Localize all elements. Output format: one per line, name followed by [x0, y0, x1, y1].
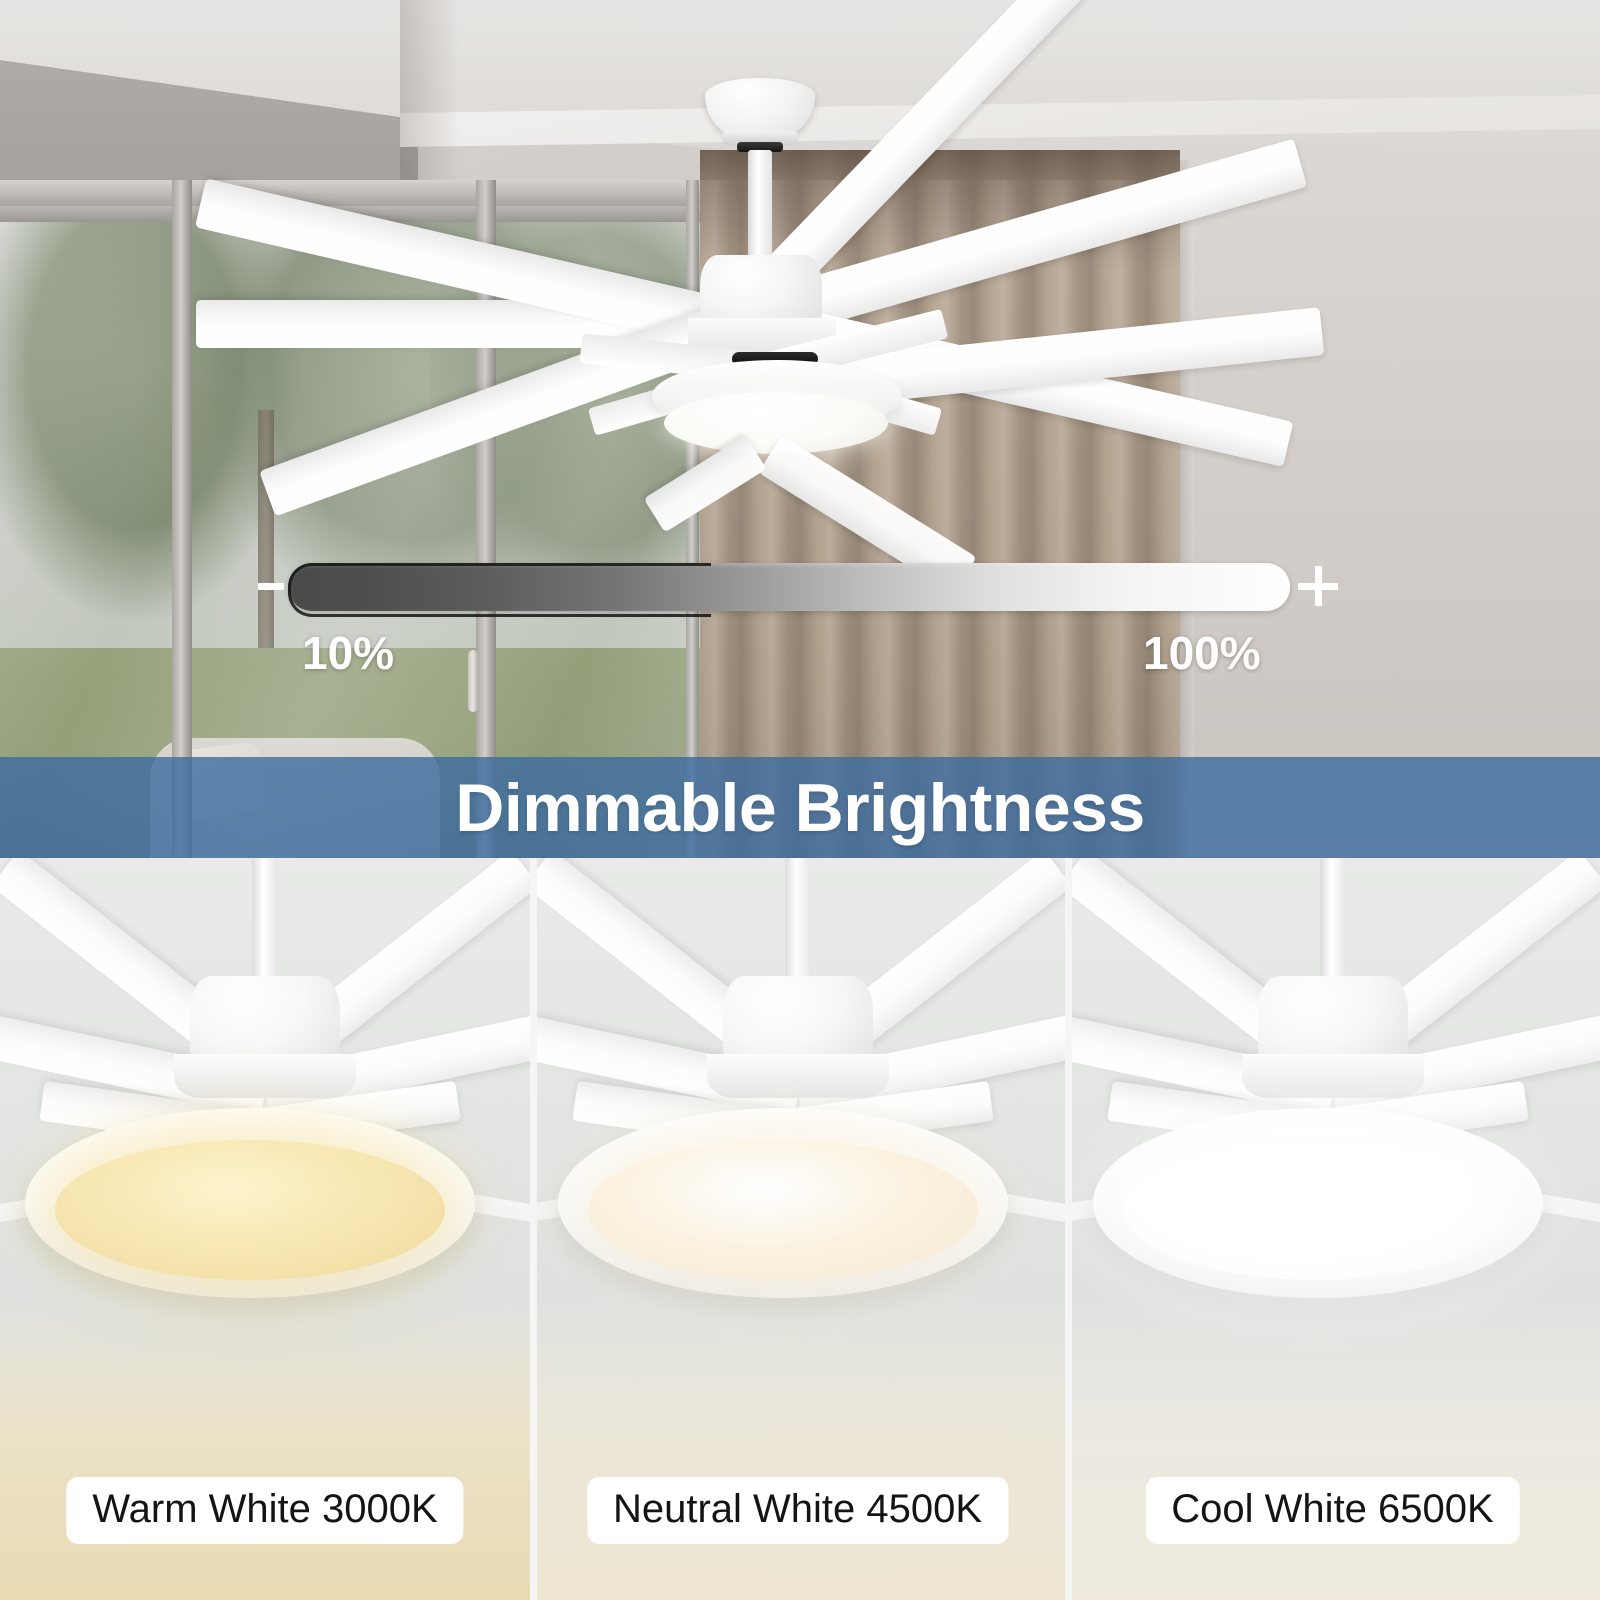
panel-divider — [530, 858, 537, 1600]
label-neutral-white: Neutral White 4500K — [587, 1477, 1008, 1544]
plus-icon[interactable] — [1298, 566, 1338, 606]
brightness-slider-track[interactable] — [288, 563, 1290, 611]
panel-divider — [1065, 858, 1072, 1600]
light-lens-cool-white — [1123, 1140, 1513, 1280]
color-temperature-comparison: Warm White 3000K Neutral White 4500K — [0, 858, 1600, 1600]
label-cool-white: Cool White 6500K — [1145, 1477, 1519, 1544]
label-warm-white: Warm White 3000K — [66, 1477, 463, 1544]
light-glow — [0, 1300, 530, 1600]
minus-icon[interactable] — [258, 583, 284, 590]
banner-title: Dimmable Brightness — [455, 769, 1145, 847]
brightness-control[interactable]: 10% 100% — [0, 0, 1600, 720]
product-feature-image: 10% 100% Dimmable Brightness Warm Whit — [0, 0, 1600, 1600]
light-glow — [530, 1300, 1065, 1600]
panel-cool-white: Cool White 6500K — [1065, 858, 1600, 1600]
feature-banner: Dimmable Brightness — [0, 757, 1600, 858]
light-lens-warm-white — [55, 1140, 445, 1280]
fan-motor-lower — [707, 1054, 889, 1098]
brightness-max-label: 100% — [1143, 626, 1261, 680]
light-lens-neutral-white — [588, 1140, 978, 1280]
panel-neutral-white: Neutral White 4500K — [530, 858, 1065, 1600]
fan-motor-lower — [174, 1054, 356, 1098]
room-scene: 10% 100% — [0, 0, 1600, 858]
panel-warm-white: Warm White 3000K — [0, 858, 530, 1600]
light-glow — [1065, 1300, 1600, 1600]
fan-motor-lower — [1242, 1054, 1424, 1098]
brightness-min-label: 10% — [302, 626, 394, 680]
